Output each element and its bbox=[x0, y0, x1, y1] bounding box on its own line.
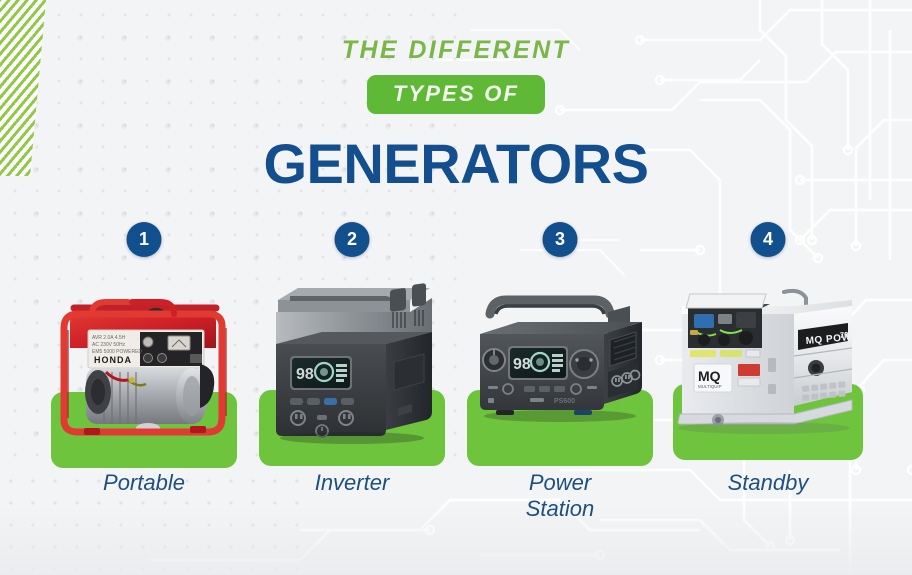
power-station-icon: 98 bbox=[456, 268, 664, 458]
generator-label-standby: Standby bbox=[664, 470, 872, 496]
svg-text:AC 230V 50Hz: AC 230V 50Hz bbox=[92, 342, 126, 348]
header-badge-wrapper: TYPES OF bbox=[0, 75, 912, 114]
generator-label-power-station: Power Station bbox=[456, 470, 664, 521]
inverter-generator-icon: 98 bbox=[248, 268, 456, 458]
step-number-badge-1: 1 bbox=[127, 222, 162, 257]
label-line-1: Power bbox=[529, 470, 591, 495]
generator-panel-inverter[interactable]: 2 bbox=[248, 222, 456, 562]
svg-text:PS600: PS600 bbox=[554, 398, 575, 405]
generator-panel-power-station[interactable]: 3 bbox=[456, 222, 664, 562]
svg-text:7000: 7000 bbox=[839, 329, 858, 340]
step-number-badge-4: 4 bbox=[751, 222, 786, 257]
svg-text:AVR 2.0A 4.5H: AVR 2.0A 4.5H bbox=[92, 335, 126, 341]
portable-generator-icon: AVR 2.0A 4.5H AC 230V 50Hz EM5 5000 POWE… bbox=[40, 268, 248, 458]
generator-panel-standby[interactable]: 4 bbox=[664, 222, 872, 562]
infographic-canvas: THE DIFFERENT TYPES OF GENERATORS 1 bbox=[0, 0, 912, 575]
generator-label-portable: Portable bbox=[40, 470, 248, 496]
svg-text:MULTIQUIP: MULTIQUIP bbox=[698, 384, 722, 389]
svg-text:MQ: MQ bbox=[698, 368, 721, 384]
header-block: THE DIFFERENT TYPES OF GENERATORS bbox=[0, 38, 912, 192]
generator-label-inverter: Inverter bbox=[248, 470, 456, 496]
svg-text:HONDA: HONDA bbox=[94, 355, 132, 365]
generator-panel-portable[interactable]: 1 bbox=[40, 222, 248, 562]
header-badge: TYPES OF bbox=[367, 75, 545, 114]
header-kicker: THE DIFFERENT bbox=[0, 38, 912, 63]
svg-text:98: 98 bbox=[513, 356, 531, 373]
page-title: GENERATORS bbox=[0, 136, 912, 192]
step-number-badge-3: 3 bbox=[543, 222, 578, 257]
standby-generator-icon: MQ MULTIQUIP MQ POWER 7000 bbox=[664, 268, 872, 458]
step-number-badge-2: 2 bbox=[335, 222, 370, 257]
svg-text:98: 98 bbox=[296, 366, 314, 383]
label-line-2: Station bbox=[526, 496, 595, 521]
generator-types-row: 1 bbox=[0, 222, 912, 562]
